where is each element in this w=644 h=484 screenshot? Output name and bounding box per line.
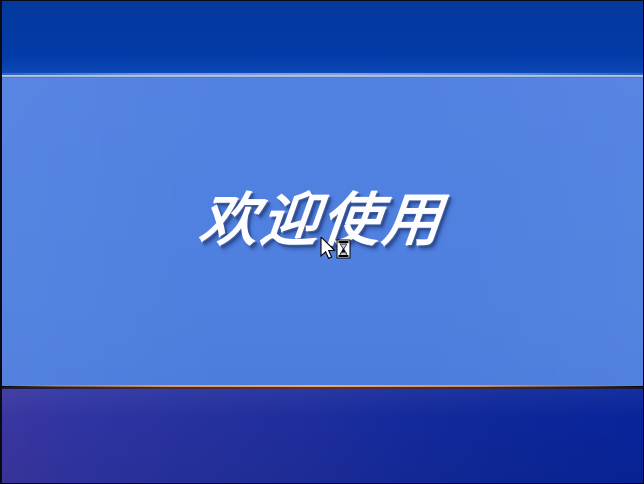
footer-band xyxy=(2,389,643,484)
header-band xyxy=(2,1,643,76)
welcome-screen: 欢迎使用 xyxy=(0,0,644,484)
body-band xyxy=(2,78,643,386)
